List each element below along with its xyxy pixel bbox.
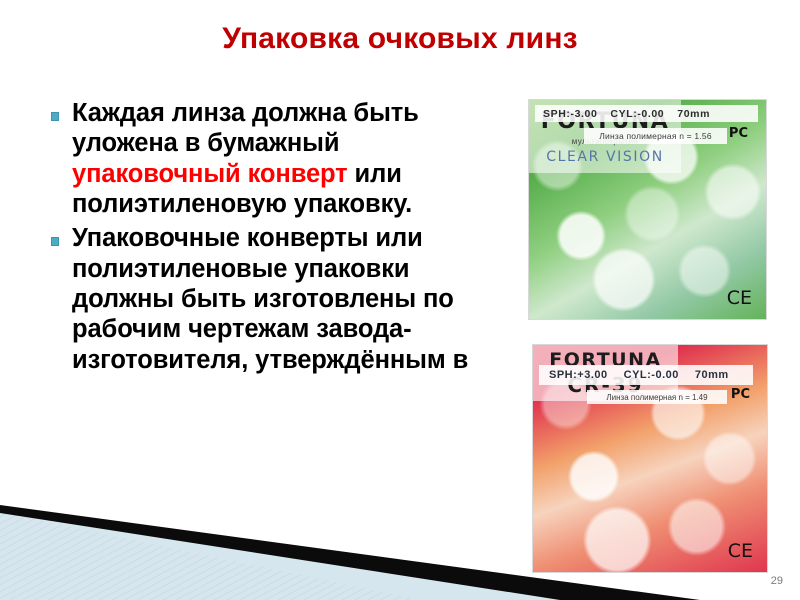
bullet-text-part-1: Каждая линза должна быть уложена в бумаж… bbox=[72, 99, 419, 157]
lens-package-photo-red: SPH:+3.00 CYL:-0.00 70mm Линза полимерна… bbox=[532, 344, 768, 573]
lens-spec-strip: SPH:+3.00 CYL:-0.00 70mm bbox=[539, 365, 753, 385]
lens-package-photo-green: SPH:-3.00 CYL:-0.00 70mm Линза полимерна… bbox=[528, 99, 767, 320]
product-line-name: CLEAR VISION bbox=[546, 149, 664, 165]
lens-spec-strip: SPH:-3.00 CYL:-0.00 70mm bbox=[535, 105, 758, 122]
bullet-text-highlight: упаковочный конверт bbox=[72, 160, 348, 188]
lens-material-label: Линза полимерная n = 1.49 bbox=[587, 390, 727, 404]
slide-page-number: 29 bbox=[771, 575, 783, 587]
list-item: Упаковочные конверты или полиэтиленовые … bbox=[44, 223, 474, 375]
spec-cyl: CYL:-0.00 bbox=[624, 369, 679, 381]
rst-certification-icon: PC bbox=[729, 126, 748, 141]
bullet-list: Каждая линза должна быть уложена в бумаж… bbox=[44, 98, 474, 379]
spec-diameter: 70mm bbox=[695, 369, 729, 381]
list-item: Каждая линза должна быть уложена в бумаж… bbox=[44, 98, 474, 219]
spec-sph: SPH:-3.00 bbox=[543, 108, 597, 120]
rst-certification-icon: PC bbox=[731, 387, 750, 402]
spec-sph: SPH:+3.00 bbox=[549, 369, 608, 381]
ce-mark-icon: CE bbox=[727, 287, 752, 309]
spec-diameter: 70mm bbox=[677, 108, 710, 120]
lens-material-label: Линза полимерная n = 1.56 bbox=[584, 128, 727, 144]
ce-mark-icon: CE bbox=[728, 540, 753, 562]
bullet-text: Упаковочные конверты или полиэтиленовые … bbox=[72, 224, 468, 373]
page-title: Упаковка очковых линз bbox=[0, 22, 800, 55]
square-bullet-icon bbox=[51, 112, 59, 121]
square-bullet-icon bbox=[51, 237, 59, 246]
spec-cyl: CYL:-0.00 bbox=[610, 108, 664, 120]
presentation-slide: Упаковка очковых линз Каждая линза должн… bbox=[0, 0, 800, 600]
